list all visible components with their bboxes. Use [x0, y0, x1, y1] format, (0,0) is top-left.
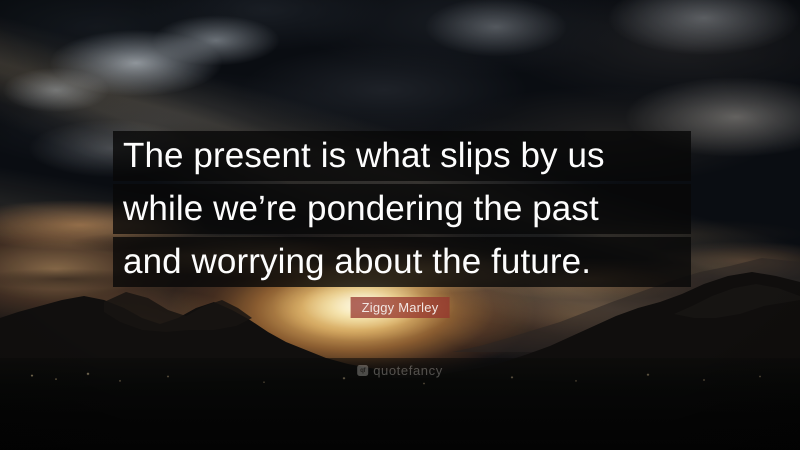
quotefancy-brand-text: quotefancy	[373, 363, 443, 378]
quotefancy-watermark: qf quotefancy	[357, 363, 443, 378]
quote-line-3: and worrying about the future.	[113, 237, 691, 287]
quotefancy-badge-glyph: qf	[360, 368, 365, 374]
quote-line-2: while we’re pondering the past	[113, 184, 691, 234]
author-attribution: Ziggy Marley	[351, 297, 450, 318]
quote-image: The present is what slips by us while we…	[0, 0, 800, 450]
quote-line-1: The present is what slips by us	[113, 131, 691, 181]
quotefancy-badge-icon: qf	[357, 365, 368, 376]
quote-text-block: The present is what slips by us while we…	[113, 131, 691, 287]
